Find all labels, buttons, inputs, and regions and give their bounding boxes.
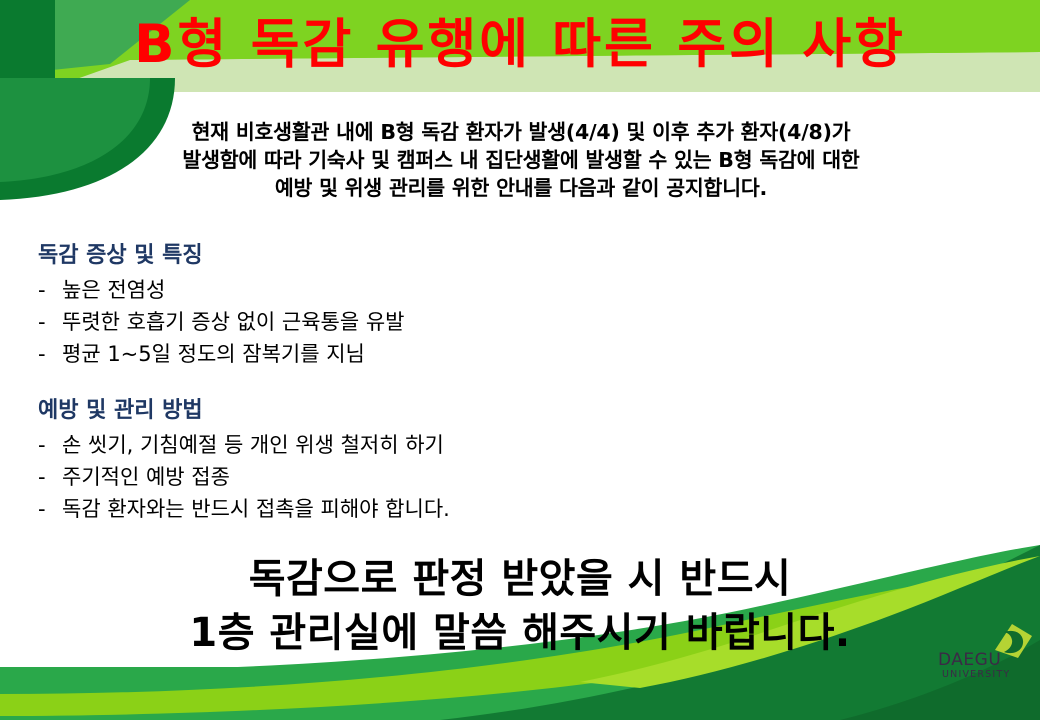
intro-line-2: 발생함에 따라 기숙사 및 캠퍼스 내 집단생활에 발생할 수 있는 B형 독감… (38, 146, 1004, 174)
bullet-dash-icon: - (38, 306, 62, 338)
poster-root: B형 독감 유행에 따른 주의 사항 현재 비호생활관 내에 B형 독감 환자가… (0, 0, 1040, 720)
bullet-text: 독감 환자와는 반드시 접촉을 피해야 합니다. (62, 493, 738, 525)
bullet-list-symptoms: - 높은 전염성 - 뚜렷한 호흡기 증상 없이 근육통을 유발 - 평균 1~… (38, 274, 738, 370)
section-heading-prevention: 예방 및 관리 방법 (38, 396, 738, 426)
intro-line-1: 현재 비호생활관 내에 B형 독감 환자가 발생(4/4) 및 이후 추가 환자… (38, 118, 1004, 146)
content-sections: 독감 증상 및 특징 - 높은 전염성 - 뚜렷한 호흡기 증상 없이 근육통을… (38, 241, 738, 525)
intro-paragraph: 현재 비호생활관 내에 B형 독감 환자가 발생(4/4) 및 이후 추가 환자… (38, 118, 1004, 202)
bullet-text: 평균 1~5일 정도의 잠복기를 지님 (62, 338, 738, 370)
list-item: - 손 씻기, 기침예절 등 개인 위생 철저히 하기 (38, 429, 738, 461)
list-item: - 주기적인 예방 접종 (38, 461, 738, 493)
bullet-dash-icon: - (38, 429, 62, 461)
logo-name-text: DAEGU (938, 652, 1016, 669)
section-heading-symptoms: 독감 증상 및 특징 (38, 241, 738, 271)
section-symptoms: 독감 증상 및 특징 - 높은 전염성 - 뚜렷한 호흡기 증상 없이 근육통을… (38, 241, 738, 370)
bullet-text: 뚜렷한 호흡기 증상 없이 근육통을 유발 (62, 306, 738, 338)
list-item: - 독감 환자와는 반드시 접촉을 피해야 합니다. (38, 493, 738, 525)
university-logo: DAEGU UNIVERSITY (938, 622, 1034, 694)
closing-line-1: 독감으로 판정 받았을 시 반드시 (0, 552, 1040, 606)
poster-title-band: B형 독감 유행에 따른 주의 사항 (0, 0, 1040, 92)
bullet-dash-icon: - (38, 461, 62, 493)
list-item: - 평균 1~5일 정도의 잠복기를 지님 (38, 338, 738, 370)
bullet-dash-icon: - (38, 493, 62, 525)
list-item: - 높은 전염성 (38, 274, 738, 306)
page-title: B형 독감 유행에 따른 주의 사항 (134, 18, 906, 75)
closing-message: 독감으로 판정 받았을 시 반드시 1층 관리실에 말씀 해주시기 바랍니다. (0, 552, 1040, 660)
bullet-text: 높은 전염성 (62, 274, 738, 306)
list-item: - 뚜렷한 호흡기 증상 없이 근육통을 유발 (38, 306, 738, 338)
logo-subtitle-text: UNIVERSITY (938, 669, 1016, 681)
bullet-dash-icon: - (38, 338, 62, 370)
intro-line-3: 예방 및 위생 관리를 위한 안내를 다음과 같이 공지합니다. (38, 174, 1004, 202)
section-prevention: 예방 및 관리 방법 - 손 씻기, 기침예절 등 개인 위생 철저히 하기 -… (38, 396, 738, 525)
closing-line-2: 1층 관리실에 말씀 해주시기 바랍니다. (0, 606, 1040, 660)
bullet-list-prevention: - 손 씻기, 기침예절 등 개인 위생 철저히 하기 - 주기적인 예방 접종… (38, 429, 738, 525)
logo-wordmark: DAEGU UNIVERSITY (938, 652, 1016, 681)
bullet-text: 손 씻기, 기침예절 등 개인 위생 철저히 하기 (62, 429, 738, 461)
bullet-text: 주기적인 예방 접종 (62, 461, 738, 493)
bullet-dash-icon: - (38, 274, 62, 306)
